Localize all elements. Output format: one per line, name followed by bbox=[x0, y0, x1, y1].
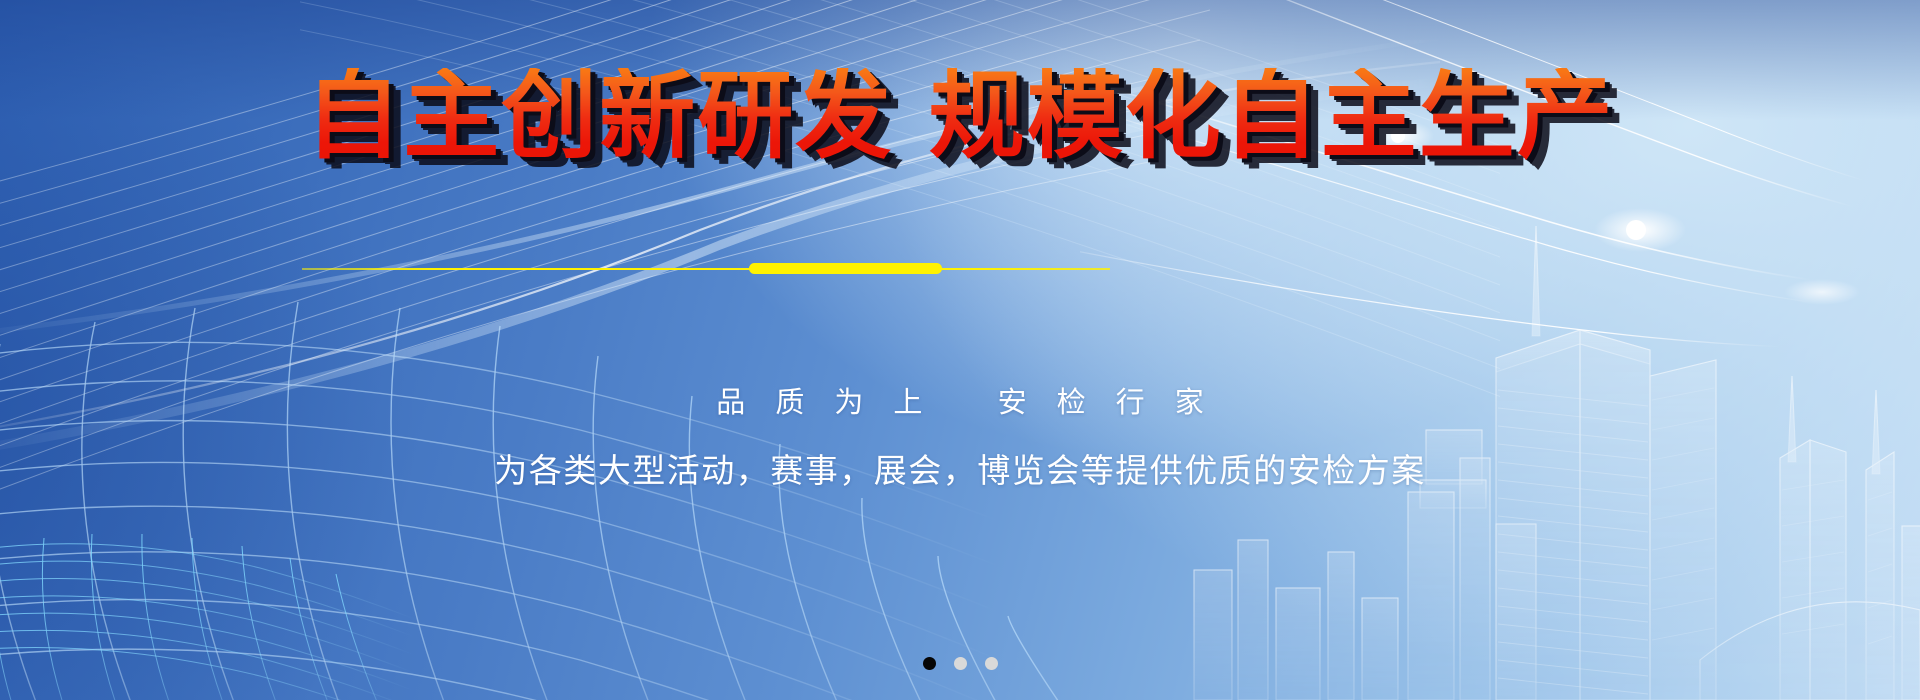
tagline-right: 安 检 行 家 bbox=[998, 387, 1215, 419]
tagline: 品 质 为 上 安 检 行 家 bbox=[0, 379, 1920, 421]
carousel-dot-2[interactable] bbox=[954, 657, 967, 670]
carousel-dot-1[interactable] bbox=[923, 657, 936, 670]
page-title: 自主创新研发 规模化自主生产 bbox=[0, 68, 1920, 164]
carousel-dot-3[interactable] bbox=[985, 657, 998, 670]
subtitle: 为各类大型活动，赛事，展会，博览会等提供优质的安检方案 bbox=[0, 444, 1920, 492]
divider-thick-segment bbox=[749, 263, 942, 274]
hero-banner: 自主创新研发 规模化自主生产 品 质 为 上 安 检 行 家 为各类大型活动，赛… bbox=[0, 0, 1920, 700]
title-divider bbox=[302, 262, 1110, 276]
tagline-left: 品 质 为 上 bbox=[716, 387, 933, 419]
divider-thin-line bbox=[302, 268, 1110, 270]
carousel-indicators bbox=[0, 657, 1920, 670]
